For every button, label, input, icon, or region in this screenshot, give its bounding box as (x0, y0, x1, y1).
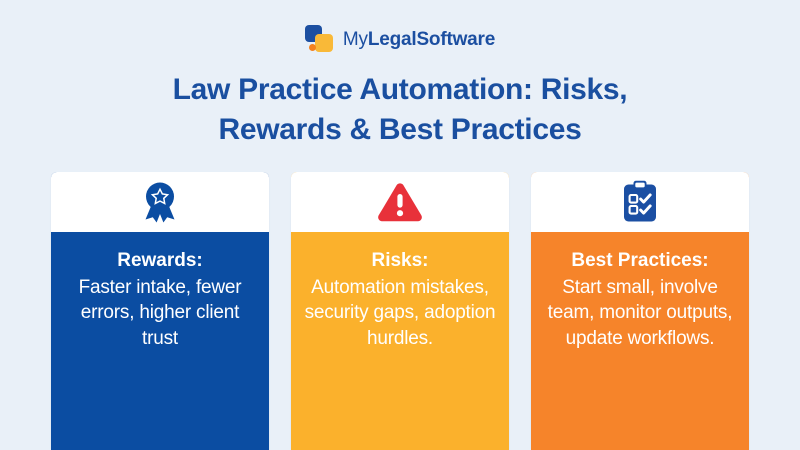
award-badge-icon (140, 181, 180, 223)
card-best-practices: Best Practices: Start small, involve tea… (531, 172, 749, 450)
logo-orange-dot (309, 44, 316, 51)
brand-name: MyLegalSoftware (343, 30, 495, 49)
card-best-practices-text: Start small, involve team, monitor outpu… (543, 275, 737, 352)
card-risks-icon-area (291, 172, 509, 232)
card-risks: Risks: Automation mistakes, security gap… (291, 172, 509, 450)
logo-yellow-square (315, 34, 333, 52)
clipboard-checklist-icon (622, 180, 658, 224)
card-best-practices-icon-area (531, 172, 749, 232)
card-rewards: Rewards: Faster intake, fewer errors, hi… (51, 172, 269, 450)
brand-name-light: My (343, 29, 368, 50)
card-rewards-heading: Rewards: (63, 248, 257, 274)
card-best-practices-heading: Best Practices: (543, 248, 737, 274)
warning-triangle-icon (377, 182, 423, 223)
logo-squares-icon (305, 25, 335, 53)
page-title: Law Practice Automation: Risks, Rewards … (60, 70, 740, 149)
page-title-line-1: Law Practice Automation: Risks, (60, 70, 740, 110)
infographic-page: MyLegalSoftware Law Practice Automation:… (0, 0, 800, 450)
card-risks-heading: Risks: (303, 248, 497, 274)
brand-logo: MyLegalSoftware (0, 24, 800, 54)
card-risks-body: Risks: Automation mistakes, security gap… (291, 232, 509, 450)
brand-name-bold: LegalSoftware (368, 29, 495, 50)
card-rewards-text: Faster intake, fewer errors, higher clie… (63, 275, 257, 352)
card-rewards-body: Rewards: Faster intake, fewer errors, hi… (51, 232, 269, 450)
cards-row: Rewards: Faster intake, fewer errors, hi… (51, 172, 751, 450)
card-best-practices-body: Best Practices: Start small, involve tea… (531, 232, 749, 450)
card-rewards-icon-area (51, 172, 269, 232)
card-risks-text: Automation mistakes, security gaps, adop… (303, 275, 497, 352)
page-title-line-2: Rewards & Best Practices (60, 110, 740, 150)
